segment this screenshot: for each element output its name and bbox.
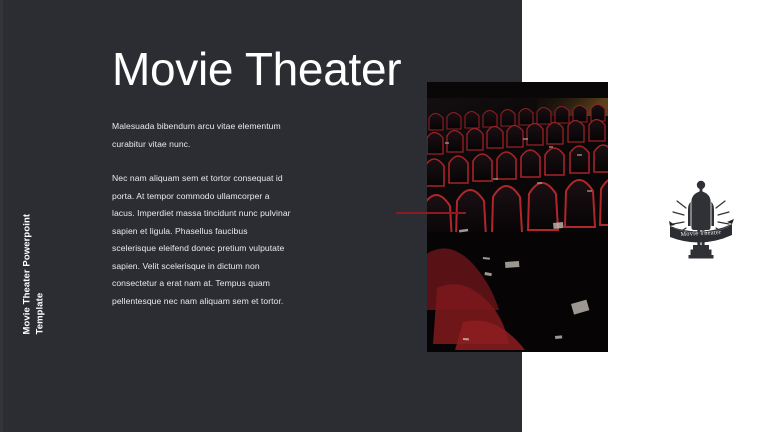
vertical-label-line-2: Template — [34, 135, 47, 335]
vertical-label-line-1: Movie Theater Powerpoint — [22, 214, 33, 335]
paragraph-2: Nec nam aliquam sem et tortor consequat … — [112, 170, 294, 310]
red-accent-rule — [396, 212, 466, 214]
page-title: Movie Theater — [112, 43, 401, 95]
movie-theater-logo: Movie Theater — [668, 168, 734, 268]
body-text-column: Malesuada bibendum arcu vitae elementum … — [112, 118, 294, 310]
vertical-template-label: Movie Theater Powerpoint Template — [22, 135, 47, 335]
slide-root: Movie Theater Powerpoint Template Movie … — [0, 0, 768, 432]
paragraph-1: Malesuada bibendum arcu vitae elementum … — [112, 118, 294, 153]
theater-seats-photo — [427, 82, 608, 352]
